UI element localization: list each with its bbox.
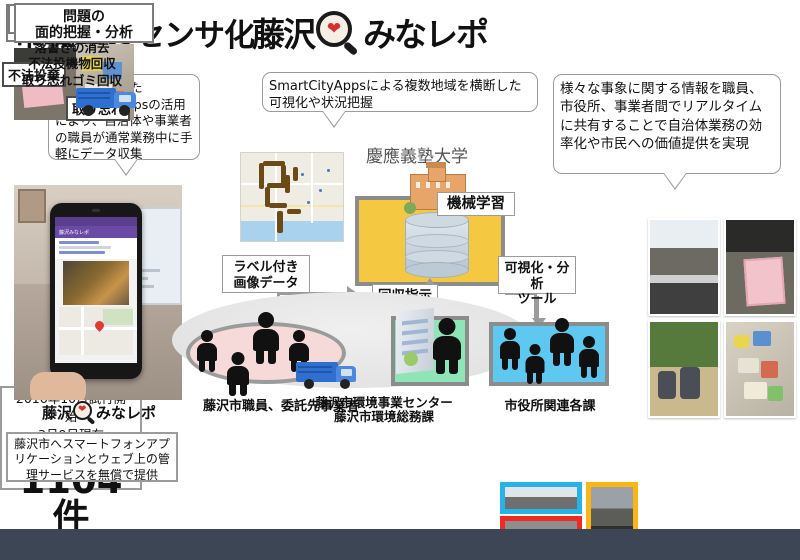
photo-mattress-dump — [724, 218, 796, 316]
phone-statusbar — [55, 217, 137, 226]
photo-guardrail — [648, 218, 720, 316]
person-icon — [196, 330, 218, 372]
analysis-photo-cyan-frame — [500, 482, 582, 514]
vis-tool-line2: ツール — [503, 292, 571, 308]
magnifier-heart-icon: ❤ — [316, 11, 358, 53]
app-header: 藤沢みなレポ — [55, 226, 137, 238]
label-environment-center-line1: 藤沢市環境事業センター — [300, 396, 468, 410]
hand-holding-phone — [30, 372, 86, 400]
database-cylinder-icon — [405, 212, 469, 278]
area-analysis-header: 問題の 面的把握・分析 — [14, 3, 154, 43]
label-environment-center: 藤沢市環境事業センター 藤沢市環境総務課 — [300, 396, 468, 425]
person-icon — [226, 352, 250, 396]
slide-root: 市職員のセンサ化 藤沢 ❤ みなレポ 地域に特化したSmartCityAppsの… — [0, 0, 800, 560]
label-environment-center-line2: 藤沢市環境総務課 — [300, 410, 468, 424]
caption-right-text: みなレポ — [96, 402, 156, 423]
photo-roadside-bags — [648, 320, 720, 418]
logo-right-text: みなレポ — [363, 8, 487, 56]
person-icon — [252, 312, 280, 364]
labeled-image-data-label: ラベル付き 画像データ — [222, 255, 310, 293]
smartphone-device: 藤沢みなレポ — [50, 203, 142, 379]
university-label: 慶應義塾大学 — [352, 142, 482, 167]
visualization-tool-label: 可視化・分析 ツール — [498, 256, 576, 294]
label-city-departments: 市役所関連各課 — [487, 400, 613, 415]
tree-icon — [404, 352, 418, 366]
labeled-image-data-line2: 画像データ — [227, 276, 305, 292]
phone-camera — [92, 209, 100, 212]
app-map — [59, 307, 133, 355]
person-icon — [499, 328, 521, 370]
wall-picture — [18, 189, 46, 223]
callout-right-tail — [664, 173, 686, 188]
callout-center-text: SmartCityAppsによる複数地域を横断した可視化や状況把握 — [269, 79, 522, 111]
person-icon — [524, 344, 545, 384]
caption-left-text: 藤沢 — [42, 402, 72, 423]
magnifier-heart-icon-small: ❤ — [73, 401, 95, 423]
person-icon — [549, 318, 575, 366]
callout-center-tail — [323, 111, 345, 126]
callout-right: 様々な事象に関する情報を職員、市役所、事業者間でリアルタイムに共有することで自治… — [553, 74, 781, 174]
smartphone-app-photo: 藤沢みなレポ — [14, 185, 182, 400]
footer-strip — [0, 529, 800, 560]
phone-screen: 藤沢みなレポ — [55, 217, 137, 363]
illegal-dumping-photo-grid — [648, 218, 796, 418]
emergency-line2: 不法投機物回収 — [4, 56, 140, 72]
photo-plastic-waste — [724, 320, 796, 418]
minarepo-logo-caption: 藤沢 ❤ みなレポ — [42, 400, 182, 424]
callout-right-text: 様々な事象に関する情報を職員、市役所、事業者間でリアルタイムに共有することで自治… — [560, 81, 763, 152]
vis-tool-line1: 可視化・分析 — [503, 261, 571, 292]
app-form — [55, 238, 137, 259]
app-photo-thumb — [63, 261, 129, 305]
labeled-image-data-line1: ラベル付き — [227, 260, 305, 276]
logo-left-text: 藤沢 — [252, 8, 314, 56]
person-icon — [432, 318, 462, 374]
area-analysis-header-line2: 面的把握・分析 — [16, 25, 152, 41]
machine-learning-label: 機械学習 — [437, 192, 515, 216]
free-service-card: 藤沢市へスマートフォンアプリケーションとウェブ上の管理サービスを無償で提供 — [6, 432, 178, 482]
area-analysis-header-line1: 問題の — [16, 9, 152, 25]
callout-center: SmartCityAppsによる複数地域を横断した可視化や状況把握 — [262, 72, 538, 112]
person-icon — [578, 336, 600, 378]
garbage-truck-icon — [296, 358, 358, 390]
callout-left-tail — [115, 159, 137, 174]
minarepo-logo: 藤沢 ❤ みなレポ — [252, 8, 487, 56]
free-service-text: 藤沢市へスマートフォンアプリケーションとウェブ上の管理サービスを無償で提供 — [8, 434, 176, 486]
garbage-truck-icon — [76, 82, 138, 116]
gps-trace-map-thumbnail — [240, 152, 344, 242]
